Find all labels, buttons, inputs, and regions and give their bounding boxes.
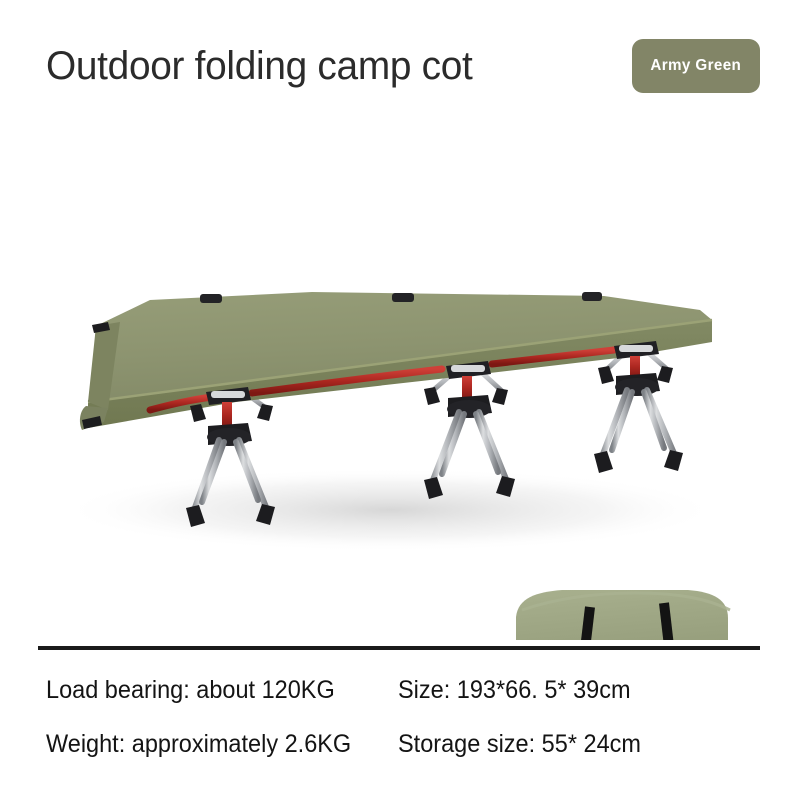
spec-size: Size: 193*66. 5* 39cm [398, 676, 733, 705]
camp-cot-illustration [0, 110, 800, 640]
spec-row: Load bearing: about 120KG Size: 193*66. … [46, 676, 754, 730]
page-title: Outdoor folding camp cot [46, 44, 473, 89]
storage-bag-illustration [502, 590, 762, 640]
spec-weight: Weight: approximately 2.6KG [46, 730, 377, 759]
cot-ground-shadow [60, 468, 720, 552]
product-image-page: Outdoor folding camp cot Army Green [0, 0, 800, 800]
spec-row: Weight: approximately 2.6KG Storage size… [46, 730, 754, 784]
cot-leg-assembly-right [594, 341, 683, 473]
color-variant-badge[interactable]: Army Green [632, 39, 760, 93]
spec-table: Load bearing: about 120KG Size: 193*66. … [46, 676, 754, 784]
product-photo [0, 110, 800, 640]
spec-storage-size: Storage size: 55* 24cm [398, 730, 733, 759]
color-variant-label: Army Green [651, 57, 742, 75]
cot-feet-right [594, 450, 683, 473]
spec-load-bearing: Load bearing: about 120KG [46, 676, 377, 705]
spec-divider [38, 646, 760, 650]
